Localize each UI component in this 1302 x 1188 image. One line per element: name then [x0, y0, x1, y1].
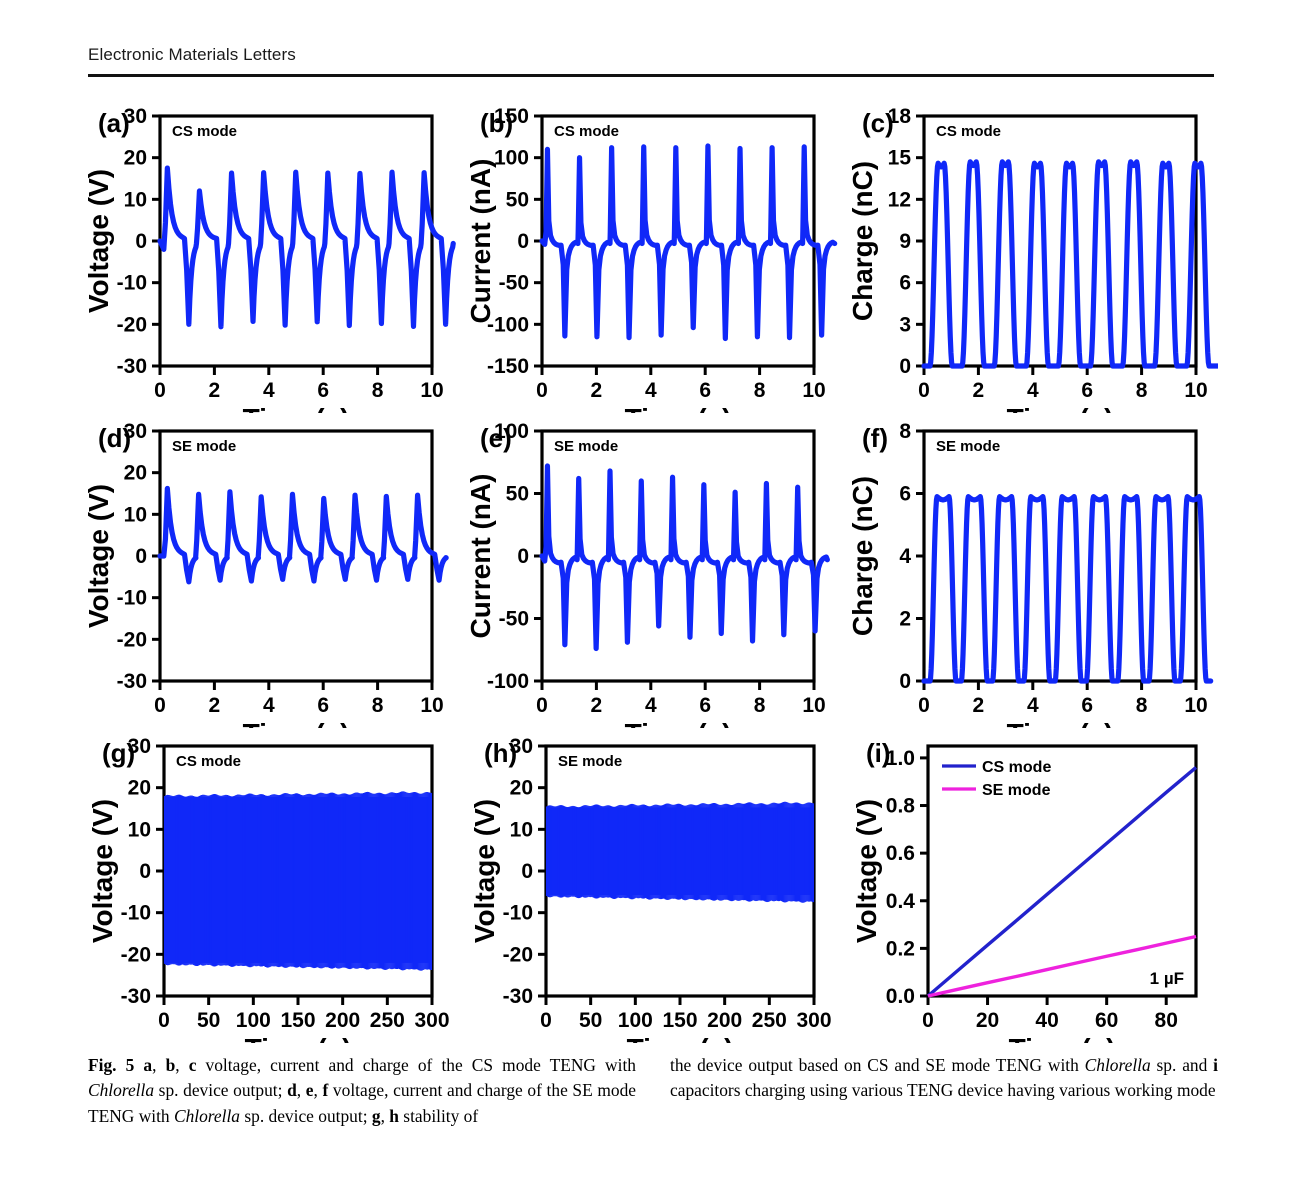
- caption-segment: stability of: [399, 1106, 478, 1126]
- panel-tag: (f): [862, 423, 888, 453]
- header-rule: [88, 74, 1214, 77]
- y-tick-label: 0: [517, 545, 529, 568]
- y-tick-label: 0.2: [886, 937, 915, 960]
- y-tick-label: 6: [899, 272, 911, 295]
- x-axis-title: Time (s): [1007, 718, 1114, 728]
- y-axis-title: Voltage (V): [88, 484, 114, 628]
- x-tick-label: 0: [536, 694, 548, 717]
- caption-segment: d: [287, 1080, 297, 1100]
- y-tick-label: 3: [899, 313, 911, 336]
- x-axis-title: Time (s): [243, 403, 350, 413]
- y-tick-label: 4: [899, 545, 911, 568]
- panel-tag: (g): [102, 738, 135, 768]
- y-tick-label: 0: [517, 230, 529, 253]
- caption-segment: ,: [175, 1055, 188, 1075]
- y-tick-label: 0: [521, 860, 533, 883]
- y-tick-label: 15: [888, 147, 912, 170]
- x-tick-label: 300: [414, 1009, 449, 1032]
- mode-label: SE mode: [936, 438, 1000, 455]
- x-tick-label: 0: [536, 379, 548, 402]
- panel-a: 3020100-10-20-300246810Voltage (V)Time (…: [88, 98, 470, 413]
- mode-label: CS mode: [176, 753, 241, 770]
- x-tick-label: 50: [197, 1009, 220, 1032]
- y-tick-label: 0: [135, 230, 147, 253]
- caption-segment: g: [372, 1106, 381, 1126]
- y-tick-label: 0: [139, 860, 151, 883]
- x-axis-title: Time (s): [1007, 403, 1114, 413]
- caption-segment: sp. device output;: [154, 1080, 287, 1100]
- x-tick-label: 200: [707, 1009, 742, 1032]
- y-tick-label: 0.4: [886, 890, 916, 913]
- x-tick-label: 2: [973, 694, 985, 717]
- y-tick-label: 20: [510, 777, 533, 800]
- data-trace: [542, 466, 827, 649]
- y-tick-label: 50: [506, 188, 529, 211]
- data-trace: [160, 168, 453, 327]
- y-tick-label: -150: [487, 355, 529, 378]
- panel-row-1: 3020100-10-20-300246810Voltage (V)Time (…: [88, 98, 1218, 413]
- panel-c: 18151296300246810Charge (nC)Time (s)(c)C…: [852, 98, 1218, 413]
- y-tick-label: 0.6: [886, 842, 915, 865]
- mode-label: CS mode: [554, 123, 619, 140]
- y-tick-label: 12: [888, 188, 911, 211]
- data-trace: [924, 497, 1211, 681]
- y-tick-label: 20: [128, 777, 151, 800]
- caption-segment: ,: [381, 1106, 390, 1126]
- x-tick-label: 20: [976, 1009, 999, 1032]
- caption-segment: Chlorella: [88, 1080, 154, 1100]
- caption-segment: sp. device output;: [240, 1106, 372, 1126]
- x-tick-label: 6: [1081, 379, 1093, 402]
- x-tick-label: 0: [918, 379, 930, 402]
- x-axis-title: Time (s): [243, 718, 350, 728]
- x-tick-label: 8: [372, 694, 384, 717]
- panel-h: 3020100-10-20-30050100150200250300Voltag…: [470, 728, 852, 1043]
- caption-column-right: the device output based on CS and SE mod…: [670, 1053, 1218, 1129]
- journal-name: Electronic Materials Letters: [88, 45, 1214, 65]
- panel-tag: (c): [862, 108, 894, 138]
- y-tick-label: 2: [899, 608, 911, 631]
- x-tick-label: 0: [918, 694, 930, 717]
- x-tick-label: 250: [370, 1009, 405, 1032]
- data-trace-cs-mode: [928, 767, 1196, 996]
- y-tick-label: 100: [494, 147, 529, 170]
- mode-label: SE mode: [172, 438, 236, 455]
- y-tick-label: 0.0: [886, 985, 915, 1008]
- y-tick-label: 10: [128, 818, 151, 841]
- legend-label-0: CS mode: [982, 759, 1051, 776]
- x-tick-label: 8: [1136, 379, 1148, 402]
- y-tick-label: 0.8: [886, 795, 916, 818]
- x-tick-label: 2: [209, 379, 221, 402]
- x-axis-title: Time (s): [627, 1033, 734, 1043]
- y-tick-label: -30: [117, 670, 147, 693]
- y-axis-title: Charge (nC): [852, 161, 878, 321]
- caption-segment: a: [143, 1055, 152, 1075]
- caption-segment: ,: [297, 1080, 306, 1100]
- panel-tag: (b): [480, 108, 513, 138]
- panel-f: 864200246810Charge (nC)Time (s)(f)SE mod…: [852, 413, 1218, 728]
- y-tick-label: -20: [121, 943, 151, 966]
- y-axis-title: Voltage (V): [88, 799, 118, 943]
- y-tick-label: 6: [899, 483, 911, 506]
- x-tick-label: 40: [1035, 1009, 1058, 1032]
- x-tick-label: 10: [1184, 379, 1207, 402]
- data-trace: [924, 162, 1218, 366]
- x-tick-label: 150: [280, 1009, 315, 1032]
- data-trace: [160, 489, 446, 582]
- annotation-label: 1 µF: [1150, 969, 1184, 988]
- caption-segment: Chlorella: [174, 1106, 240, 1126]
- x-tick-label: 100: [618, 1009, 653, 1032]
- x-tick-label: 60: [1095, 1009, 1118, 1032]
- y-axis-title: Charge (nC): [852, 476, 878, 636]
- y-tick-label: 20: [124, 462, 147, 485]
- panel-tag: (h): [484, 738, 517, 768]
- legend-label-1: SE mode: [982, 782, 1051, 799]
- panel-row-3: 3020100-10-20-30050100150200250300Voltag…: [88, 728, 1218, 1043]
- x-axis-title: Time (s): [625, 403, 732, 413]
- mode-label: CS mode: [172, 123, 237, 140]
- x-tick-label: 250: [752, 1009, 787, 1032]
- y-tick-label: 8: [899, 420, 911, 443]
- panel-tag: (d): [98, 423, 131, 453]
- mode-label: SE mode: [554, 438, 618, 455]
- x-tick-label: 150: [662, 1009, 697, 1032]
- y-tick-label: -10: [503, 902, 533, 925]
- x-tick-label: 4: [645, 379, 657, 402]
- y-tick-label: -100: [487, 670, 529, 693]
- x-tick-label: 6: [699, 379, 711, 402]
- y-tick-label: 0: [899, 670, 911, 693]
- y-tick-label: 10: [124, 188, 147, 211]
- x-axis-title: Time (s): [625, 718, 732, 728]
- y-tick-label: 50: [506, 483, 529, 506]
- caption-segment: b: [166, 1055, 176, 1075]
- x-tick-label: 4: [263, 379, 275, 402]
- x-tick-label: 0: [154, 694, 166, 717]
- figure-caption: Fig. 5 a, b, c voltage, current and char…: [88, 1053, 1218, 1129]
- mode-label: CS mode: [936, 123, 1001, 140]
- y-tick-label: 20: [124, 147, 147, 170]
- caption-segment: sp. and: [1151, 1055, 1213, 1075]
- y-tick-label: 0: [135, 545, 147, 568]
- x-tick-label: 2: [209, 694, 221, 717]
- legend: CS modeSE mode: [936, 748, 1074, 799]
- y-tick-label: 9: [899, 230, 911, 253]
- x-tick-label: 2: [591, 694, 603, 717]
- y-tick-label: 10: [510, 818, 533, 841]
- data-trace: [542, 146, 835, 339]
- x-tick-label: 300: [796, 1009, 831, 1032]
- y-tick-label: -50: [499, 272, 529, 295]
- x-tick-label: 6: [1081, 694, 1093, 717]
- y-axis-title: Voltage (V): [470, 799, 500, 943]
- y-axis-title: Voltage (V): [88, 169, 114, 313]
- x-tick-label: 80: [1155, 1009, 1178, 1032]
- x-tick-label: 6: [317, 694, 329, 717]
- data-trace: [547, 802, 814, 903]
- x-tick-label: 0: [158, 1009, 170, 1032]
- x-tick-label: 200: [325, 1009, 360, 1032]
- caption-segment: h: [389, 1106, 399, 1126]
- x-tick-label: 8: [754, 694, 766, 717]
- y-tick-label: 0: [899, 355, 911, 378]
- x-tick-label: 10: [802, 379, 825, 402]
- x-tick-label: 4: [645, 694, 657, 717]
- y-tick-label: -30: [503, 985, 533, 1008]
- x-tick-label: 10: [802, 694, 825, 717]
- x-tick-label: 6: [317, 379, 329, 402]
- x-tick-label: 10: [1184, 694, 1207, 717]
- figure-5-grid: 3020100-10-20-300246810Voltage (V)Time (…: [88, 98, 1218, 1038]
- figure-page: Electronic Materials Letters 3020100-10-…: [0, 0, 1302, 1188]
- y-tick-label: -30: [121, 985, 151, 1008]
- panel-b: 150100500-50-100-1500246810Current (nA)T…: [470, 98, 852, 413]
- x-tick-label: 0: [154, 379, 166, 402]
- caption-column-left: Fig. 5 a, b, c voltage, current and char…: [88, 1053, 636, 1129]
- caption-segment: capacitors charging using various TENG d…: [670, 1080, 1216, 1100]
- x-axis-title: Time (s): [245, 1033, 352, 1043]
- caption-segment: Fig. 5: [88, 1055, 134, 1075]
- x-tick-label: 6: [699, 694, 711, 717]
- panel-e: 100500-50-1000246810Current (nA)Time (s)…: [470, 413, 852, 728]
- x-tick-label: 10: [420, 694, 443, 717]
- x-tick-label: 8: [754, 379, 766, 402]
- x-axis-title: Time (s): [1009, 1033, 1116, 1043]
- x-tick-label: 8: [372, 379, 384, 402]
- y-axis-title: Voltage (V): [852, 799, 882, 943]
- y-tick-label: -20: [117, 628, 147, 651]
- y-tick-label: -50: [499, 608, 529, 631]
- y-tick-label: -20: [503, 943, 533, 966]
- panel-g: 3020100-10-20-30050100150200250300Voltag…: [88, 728, 470, 1043]
- panel-tag: (i): [866, 738, 891, 768]
- x-tick-label: 2: [591, 379, 603, 402]
- panel-row-2: 3020100-10-20-300246810Voltage (V)Time (…: [88, 413, 1218, 728]
- x-tick-label: 2: [973, 379, 985, 402]
- y-axis-title: Current (nA): [470, 474, 496, 639]
- y-tick-label: -10: [117, 272, 147, 295]
- caption-segment: Chlorella: [1085, 1055, 1151, 1075]
- x-tick-label: 100: [236, 1009, 271, 1032]
- x-tick-label: 4: [263, 694, 275, 717]
- x-tick-label: 4: [1027, 379, 1039, 402]
- panel-i: 1.00.80.60.40.20.0020406080Voltage (V)Ti…: [852, 728, 1218, 1043]
- panel-d: 3020100-10-20-300246810Voltage (V)Time (…: [88, 413, 470, 728]
- y-tick-label: -20: [117, 313, 147, 336]
- panel-tag: (e): [480, 423, 512, 453]
- x-tick-label: 10: [420, 379, 443, 402]
- x-tick-label: 0: [540, 1009, 552, 1032]
- caption-segment: ,: [152, 1055, 165, 1075]
- caption-segment: i: [1213, 1055, 1218, 1075]
- caption-segment: voltage, current and charge of the CS mo…: [196, 1055, 636, 1075]
- data-trace: [165, 791, 432, 970]
- running-head: Electronic Materials Letters: [88, 45, 1214, 77]
- plot-frame: [160, 431, 432, 681]
- x-tick-label: 8: [1136, 694, 1148, 717]
- mode-label: SE mode: [558, 753, 622, 770]
- caption-segment: the device output based on CS and SE mod…: [670, 1055, 1085, 1075]
- y-tick-label: 10: [124, 503, 147, 526]
- panel-tag: (a): [98, 108, 130, 138]
- x-tick-label: 50: [579, 1009, 602, 1032]
- x-tick-label: 0: [922, 1009, 934, 1032]
- y-axis-title: Current (nA): [470, 159, 496, 324]
- y-tick-label: -10: [117, 587, 147, 610]
- y-tick-label: -30: [117, 355, 147, 378]
- y-tick-label: -10: [121, 902, 151, 925]
- x-tick-label: 4: [1027, 694, 1039, 717]
